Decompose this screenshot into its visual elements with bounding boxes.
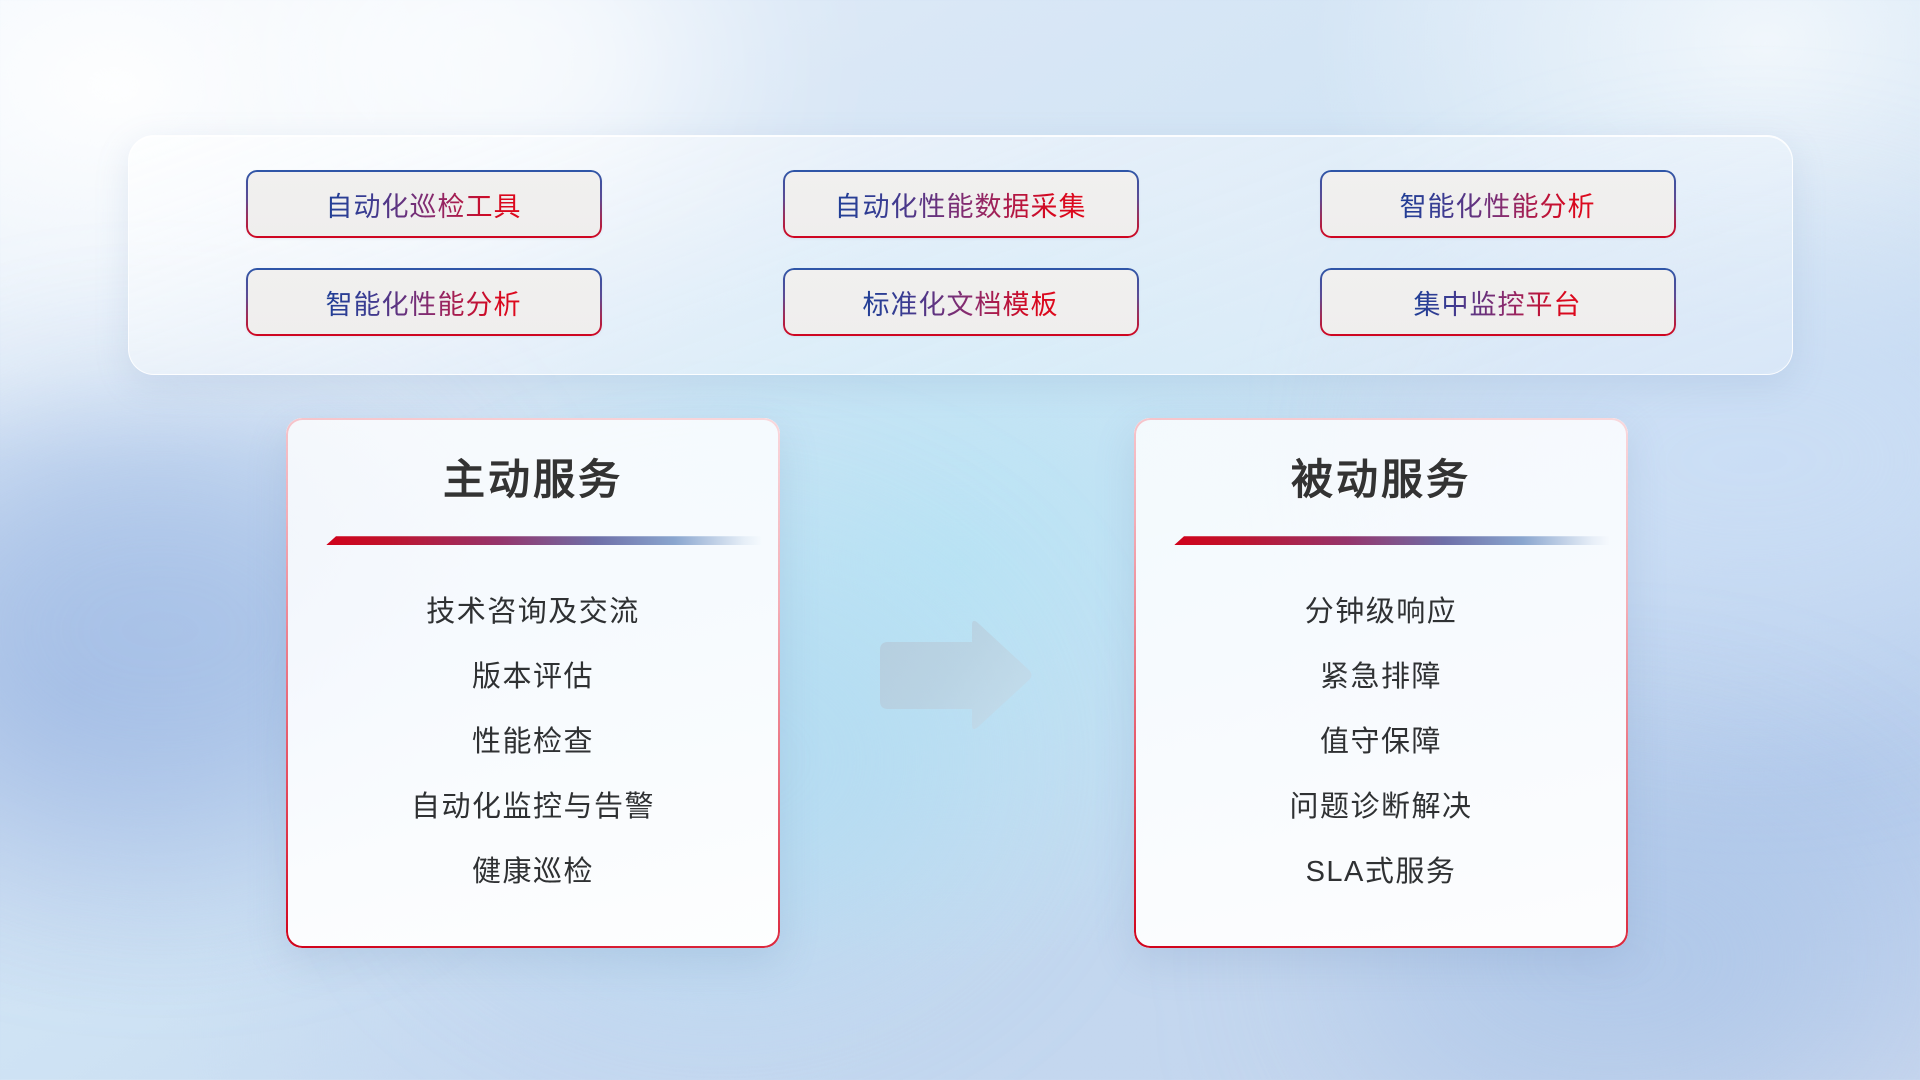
service-card-proactive: 主动服务 技术咨询及交流 版本评估 性能检查 自动化监控与告警 健康巡检	[286, 418, 780, 948]
card-item-list: 分钟级响应 紧急排障 值守保障 问题诊断解决 SLA式服务	[1168, 580, 1594, 905]
tool-pill-3[interactable]: 智能化性能分析	[246, 268, 602, 336]
card-divider	[320, 534, 746, 546]
list-item: 技术咨询及交流	[426, 580, 640, 645]
list-item: SLA式服务	[1306, 840, 1457, 905]
tool-pill-label: 自动化性能数据采集	[835, 185, 1087, 224]
list-item: 版本评估	[472, 645, 594, 710]
list-item: 分钟级响应	[1305, 580, 1458, 645]
list-item: 紧急排障	[1320, 645, 1442, 710]
tool-pill-label: 标准化文档模板	[863, 283, 1059, 322]
list-item: 性能检查	[472, 710, 594, 775]
tool-pill-label: 集中监控平台	[1414, 283, 1582, 322]
tool-pill-2[interactable]: 智能化性能分析	[1320, 170, 1676, 238]
list-item: 自动化监控与告警	[411, 775, 655, 840]
tool-pill-label: 智能化性能分析	[326, 283, 522, 322]
list-item: 值守保障	[1320, 710, 1442, 775]
tool-pill-0[interactable]: 自动化巡检工具	[246, 170, 602, 238]
tool-pill-1[interactable]: 自动化性能数据采集	[783, 170, 1139, 238]
tool-pill-5[interactable]: 集中监控平台	[1320, 268, 1676, 336]
card-title: 被动服务	[1291, 456, 1471, 504]
card-title: 主动服务	[443, 456, 623, 504]
tools-panel: 自动化巡检工具 自动化性能数据采集 智能化性能分析 智能化性能分析 标准化文档模…	[128, 135, 1793, 375]
list-item: 健康巡检	[472, 840, 594, 905]
card-divider	[1168, 534, 1594, 546]
list-item: 问题诊断解决	[1289, 775, 1472, 840]
arrow-right-icon	[874, 620, 1034, 732]
tool-pill-4[interactable]: 标准化文档模板	[783, 268, 1139, 336]
service-card-reactive: 被动服务 分钟级响应 紧急排障 值守保障 问题诊断解决 SLA式服务	[1134, 418, 1628, 948]
card-item-list: 技术咨询及交流 版本评估 性能检查 自动化监控与告警 健康巡检	[320, 580, 746, 905]
tool-pill-label: 智能化性能分析	[1400, 185, 1596, 224]
tool-pill-label: 自动化巡检工具	[326, 185, 522, 224]
